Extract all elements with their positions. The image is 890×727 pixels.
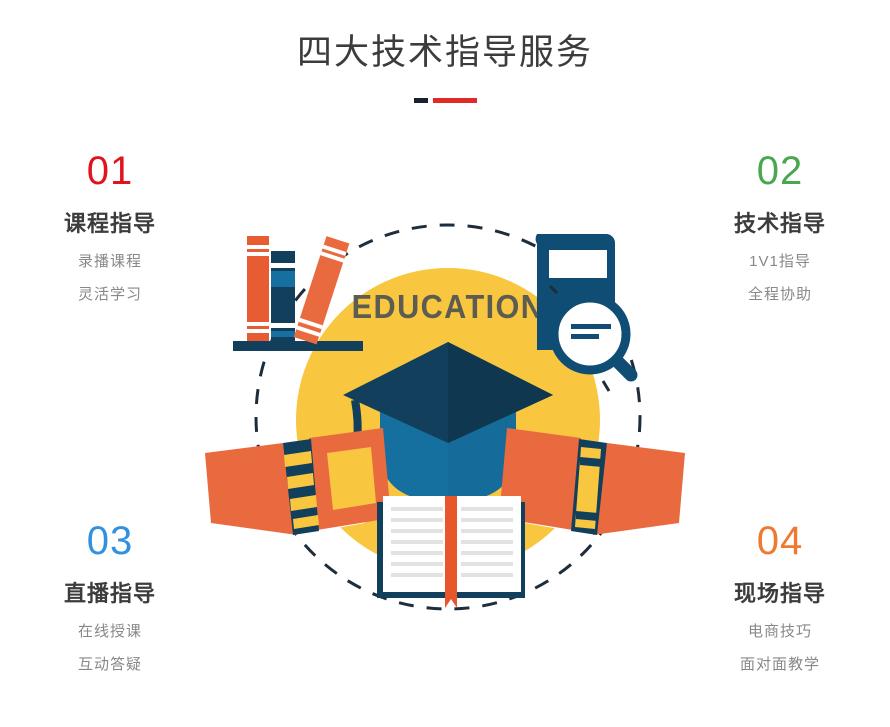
service-detail-02-1: 1V1指导 [670, 250, 890, 271]
service-number-04: 04 [670, 520, 890, 562]
education-illustration: EDUCATION [205, 205, 685, 625]
service-title-03: 直播指导 [0, 576, 220, 608]
service-item-02[interactable]: 02 技术指导 1V1指导 全程协助 [670, 150, 890, 304]
service-title-01: 课程指导 [0, 206, 220, 238]
service-detail-03-1: 在线授课 [0, 620, 220, 641]
open-book-right-icon [499, 428, 685, 535]
service-number-03: 03 [0, 520, 220, 562]
service-item-01[interactable]: 01 课程指导 录播课程 灵活学习 [0, 150, 220, 304]
service-detail-04-2: 面对面教学 [670, 653, 890, 674]
service-title-02: 技术指导 [670, 206, 890, 238]
service-detail-01-1: 录播课程 [0, 250, 220, 271]
service-detail-04-1: 电商技巧 [670, 620, 890, 641]
page-title: 四大技术指导服务 [0, 0, 890, 76]
service-item-03[interactable]: 03 直播指导 在线授课 互动答疑 [0, 520, 220, 674]
service-number-02: 02 [670, 150, 890, 192]
service-title-04: 现场指导 [670, 576, 890, 608]
open-book-bottom-icon [377, 496, 525, 608]
divider-red-segment [433, 98, 477, 103]
page-header: 四大技术指导服务 [0, 0, 890, 103]
service-detail-01-2: 灵活学习 [0, 283, 220, 304]
education-label: EDUCATION [352, 288, 545, 325]
service-detail-03-2: 互动答疑 [0, 653, 220, 674]
service-number-01: 01 [0, 150, 220, 192]
open-book-left-icon [205, 428, 391, 535]
title-divider [0, 98, 890, 103]
divider-dark-segment [414, 98, 428, 103]
service-item-04[interactable]: 04 现场指导 电商技巧 面对面教学 [670, 520, 890, 674]
service-detail-02-2: 全程协助 [670, 283, 890, 304]
